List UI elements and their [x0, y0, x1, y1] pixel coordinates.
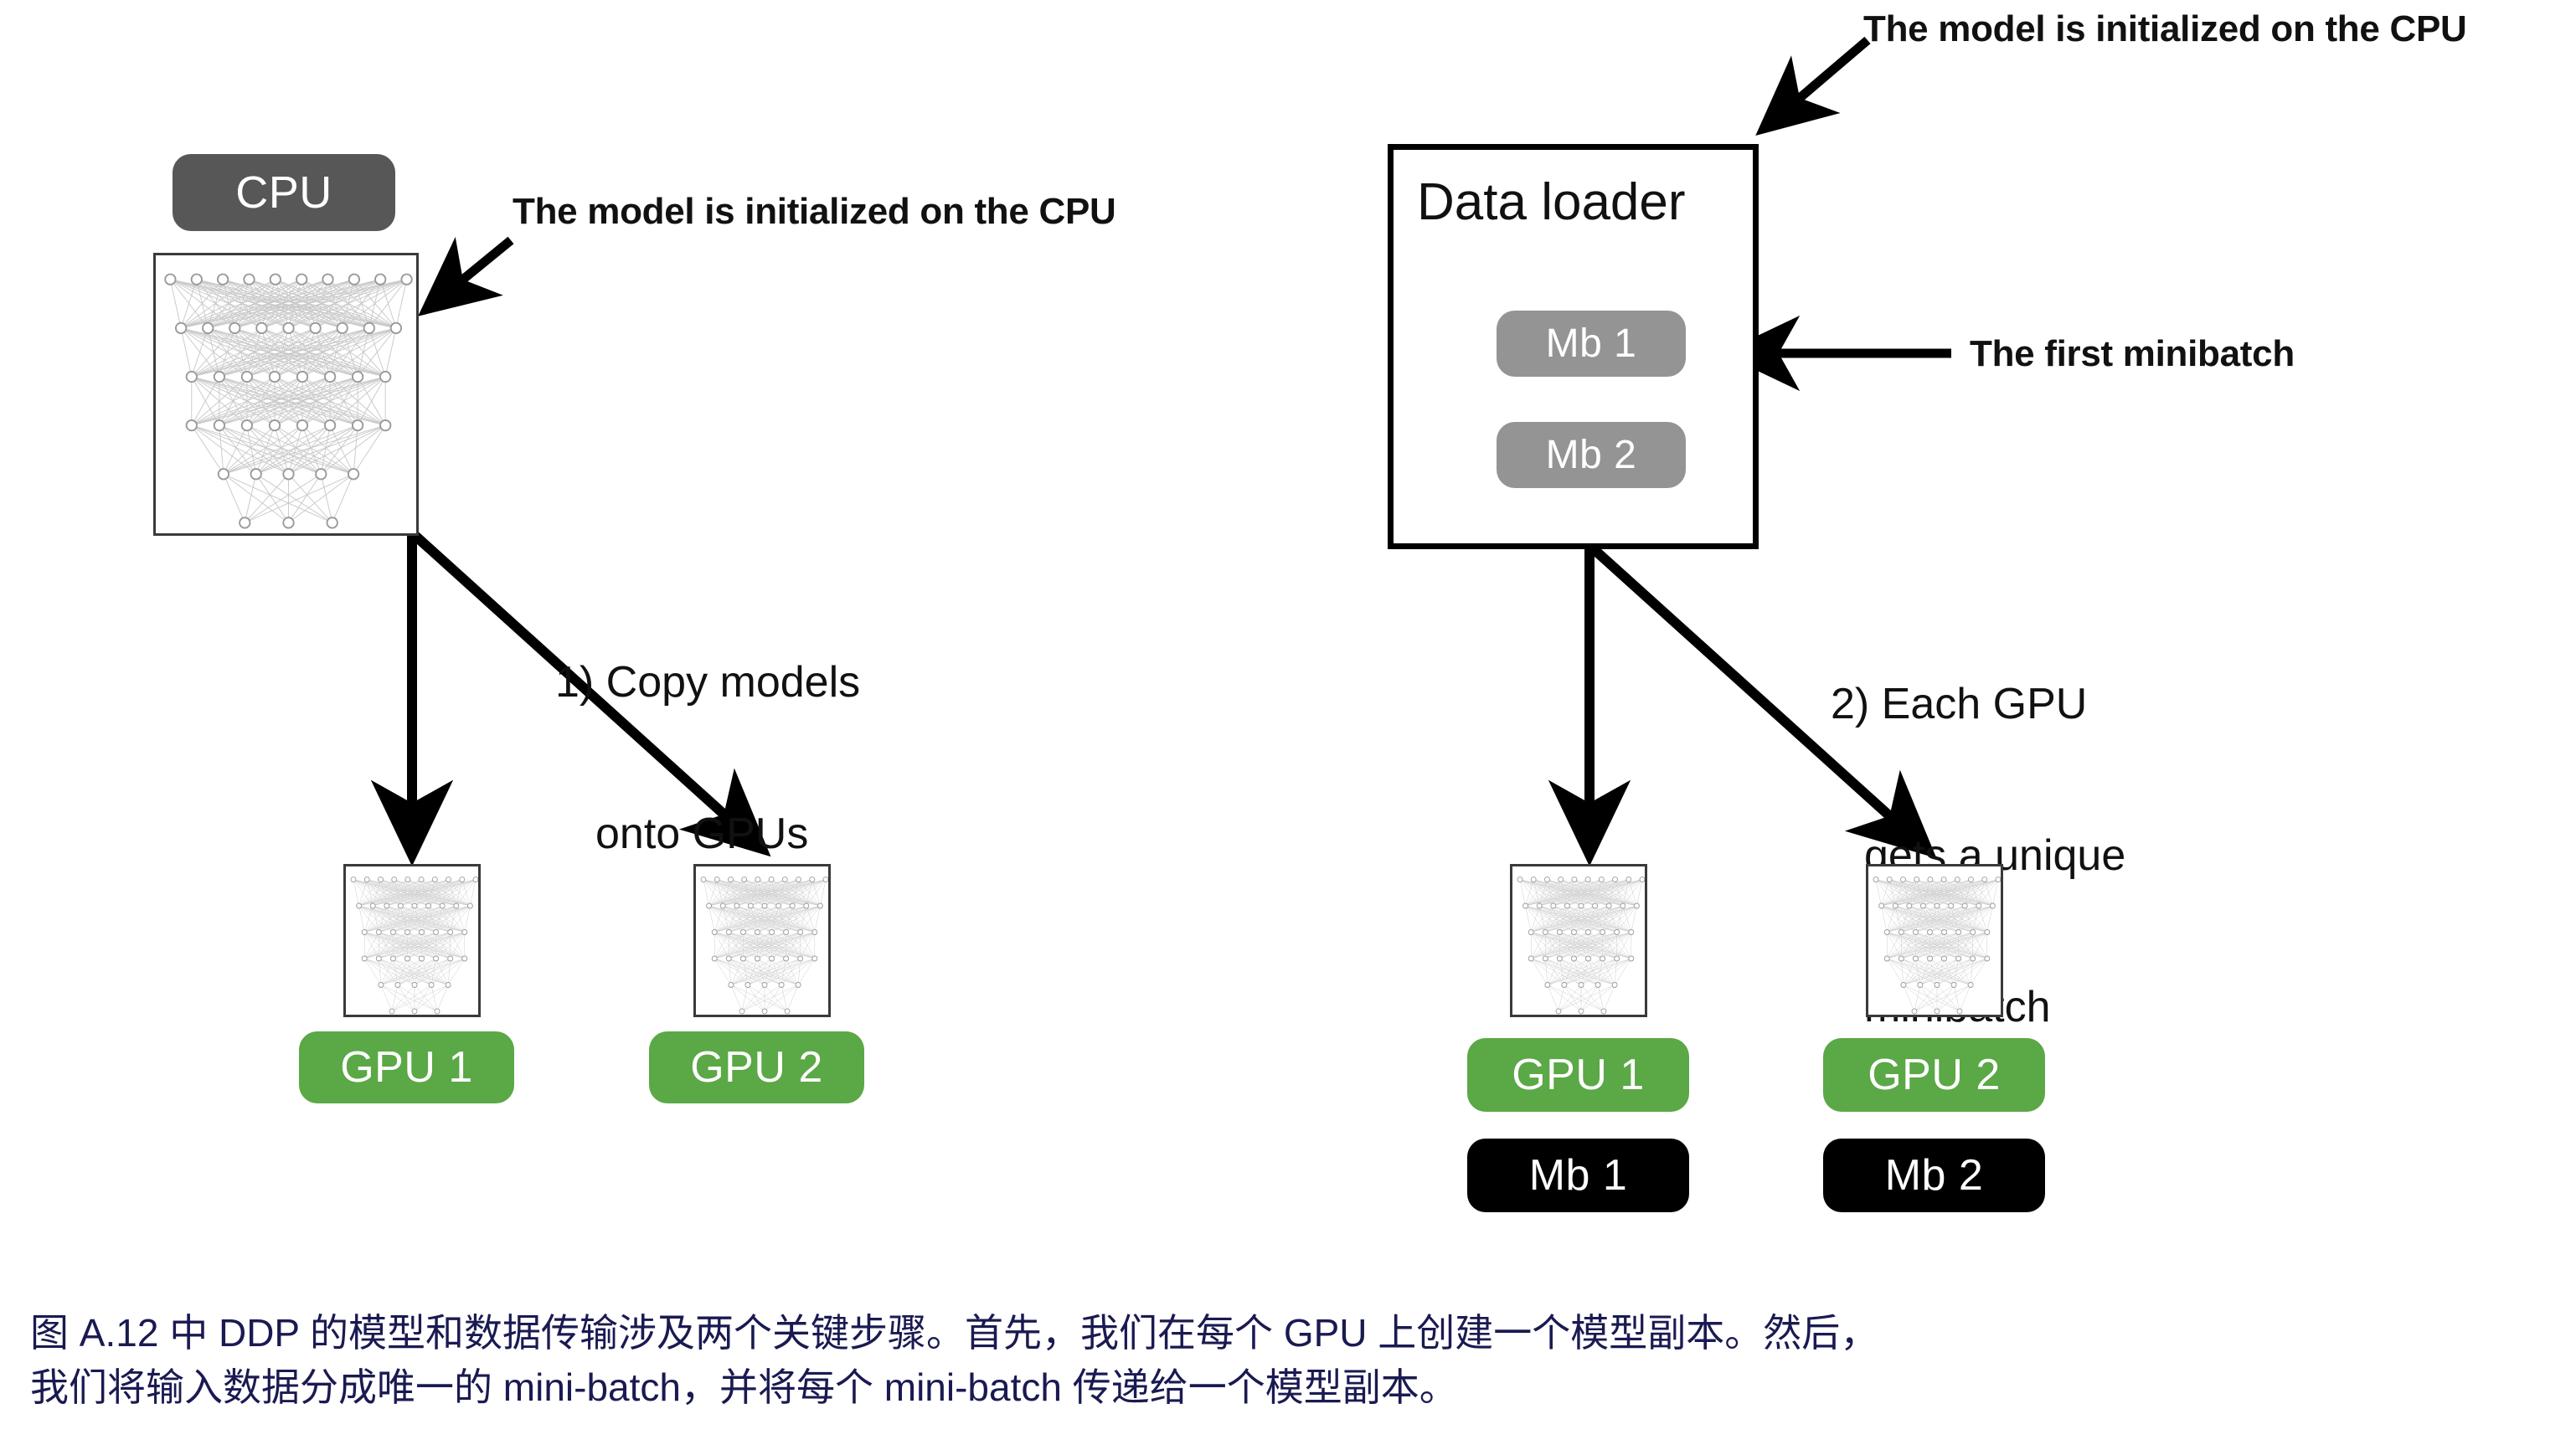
cpu-badge-label: CPU	[235, 167, 332, 219]
gpu1-minibatch-label: Mb 1	[1529, 1150, 1628, 1201]
minibatch-1-badge: Mb 1	[1497, 311, 1686, 377]
first-minibatch-annotation: The first minibatch	[1970, 333, 2295, 375]
each-gpu-line-1: 2) Each GPU	[1831, 679, 2125, 729]
left-annotation-arrow	[428, 240, 511, 308]
caption-line-2: 我们将输入数据分成唯一的 mini-batch，并将每个 mini-batch …	[30, 1360, 2551, 1415]
cpu-badge: CPU	[173, 154, 395, 231]
figure-canvas: CPU The model is initialized on the CPU …	[0, 0, 2576, 1450]
gpu1-minibatch-badge: Mb 1	[1467, 1139, 1689, 1212]
minibatch-2-label: Mb 2	[1546, 432, 1637, 478]
copy-models-line-1: 1) Copy models	[555, 657, 860, 707]
neural-network-illustration-cpu	[156, 255, 419, 536]
gpu1-badge-right: GPU 1	[1467, 1038, 1689, 1112]
minibatch-1-label: Mb 1	[1546, 321, 1637, 367]
caption-line-1: 图 A.12 中 DDP 的模型和数据传输涉及两个关键步骤。首先，我们在每个 G…	[30, 1306, 2551, 1360]
data-loader-title: Data loader	[1417, 172, 1686, 232]
gpu2-minibatch-badge: Mb 2	[1823, 1139, 2045, 1212]
right-annotation-arrow	[1765, 40, 1868, 127]
gpu2-model-box-left	[693, 864, 831, 1017]
neural-network-illustration-gpu1-left	[346, 866, 481, 1017]
figure-caption: 图 A.12 中 DDP 的模型和数据传输涉及两个关键步骤。首先，我们在每个 G…	[30, 1306, 2551, 1416]
left-annotation-text: The model is initialized on the CPU	[513, 191, 1115, 233]
neural-network-illustration-gpu2-right	[1868, 866, 2003, 1017]
gpu2-minibatch-label: Mb 2	[1885, 1150, 1984, 1201]
gpu1-model-box-right	[1510, 864, 1647, 1017]
gpu1-badge-left-label: GPU 1	[340, 1042, 473, 1093]
gpu2-badge-right: GPU 2	[1823, 1038, 2045, 1112]
gpu1-badge-right-label: GPU 1	[1512, 1050, 1645, 1100]
gpu2-badge-left-label: GPU 2	[690, 1042, 823, 1093]
gpu2-model-box-right	[1866, 864, 2003, 1017]
right-annotation-text: The model is initialized on the CPU	[1863, 8, 2466, 50]
gpu2-badge-right-label: GPU 2	[1868, 1050, 2001, 1100]
gpu1-badge-left: GPU 1	[299, 1031, 514, 1103]
copy-models-line-2: onto GPUs	[595, 809, 860, 859]
neural-network-illustration-gpu1-right	[1512, 866, 1647, 1017]
cpu-model-box	[153, 253, 419, 536]
gpu2-badge-left: GPU 2	[649, 1031, 864, 1103]
minibatch-2-badge: Mb 2	[1497, 422, 1686, 488]
neural-network-illustration-gpu2-left	[696, 866, 831, 1017]
gpu1-model-box-left	[343, 864, 481, 1017]
